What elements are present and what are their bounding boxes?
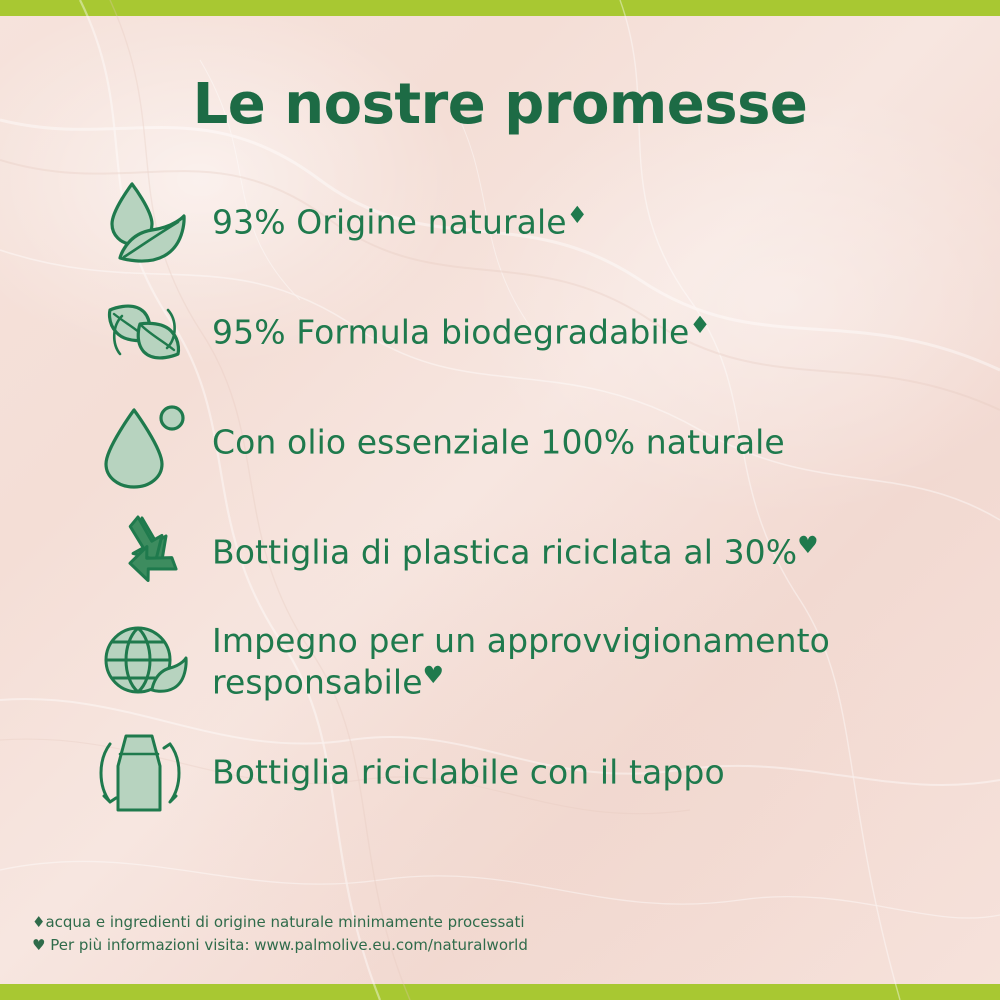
promise-mark: ♦ [689,311,710,339]
promises-poster: Le nostre promesse 93% Origine naturale♦ [0,0,1000,1000]
leaf-circle-icon [90,282,200,382]
promise-label: Impegno per un approvvigionamento respon… [200,621,912,703]
page-title: Le nostre promesse [0,72,1000,137]
list-item: Bottiglia di plastica riciclata al 30%♥ [90,502,950,602]
recycle-icon [90,502,200,602]
promises-list: 93% Origine naturale♦ [90,172,950,832]
list-item: 93% Origine naturale♦ [90,172,950,272]
globe-leaf-icon [90,612,200,712]
footnote-more-info: ♥ Per più informazioni visita: www.palmo… [32,934,932,957]
footnotes: ♦acqua e ingredienti di origine naturale… [32,911,932,956]
promise-mark: ♦ [567,201,588,229]
footnote-natural-origin: ♦acqua e ingredienti di origine naturale… [32,911,932,934]
drop-leaf-icon [90,172,200,272]
promise-mark: ♥ [423,661,444,689]
recyclable-bottle-icon [90,722,200,822]
promise-label: Bottiglia di plastica riciclata al 30%♥ [200,531,819,573]
list-item: Con olio essenziale 100% naturale [90,392,950,492]
promise-label: 93% Origine naturale♦ [200,201,588,243]
promise-label: Con olio essenziale 100% naturale [200,421,785,463]
drop-essential-oil-icon [90,392,200,492]
promise-label: 95% Formula biodegradabile♦ [200,311,711,353]
promise-label: Bottiglia riciclabile con il tappo [200,751,725,793]
list-item: Impegno per un approvvigionamento respon… [90,612,950,712]
promise-mark: ♥ [797,531,818,559]
list-item: Bottiglia riciclabile con il tappo [90,722,950,822]
list-item: 95% Formula biodegradabile♦ [90,282,950,382]
